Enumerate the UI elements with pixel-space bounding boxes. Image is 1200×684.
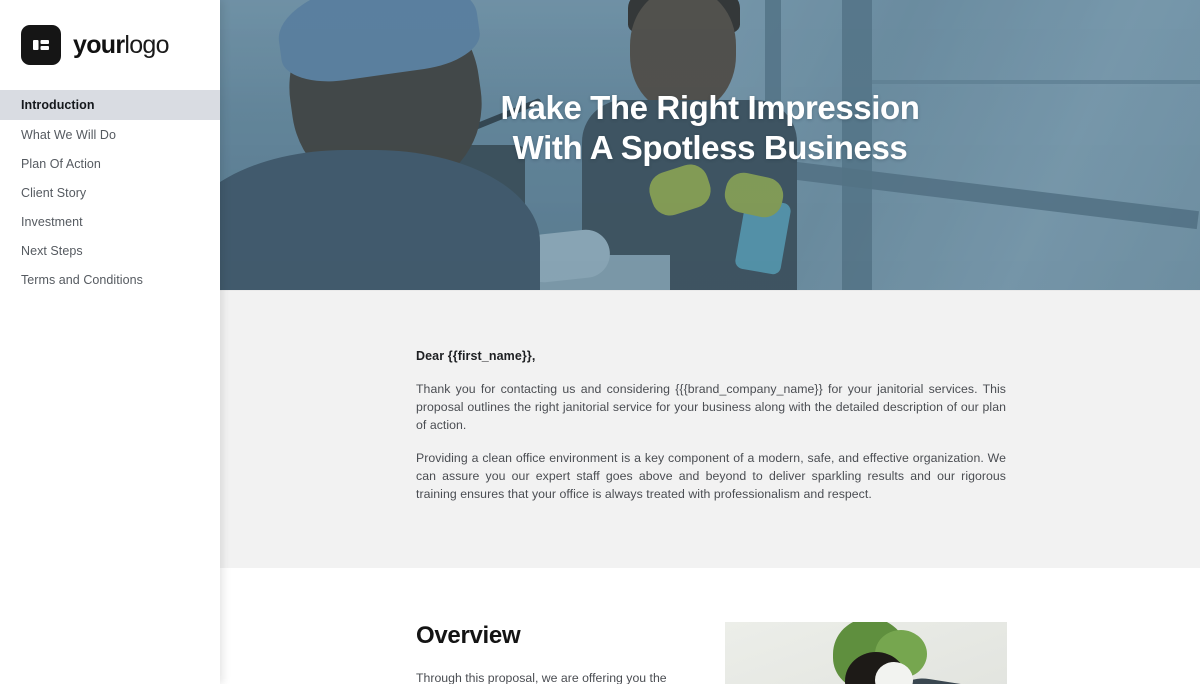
sidebar-item-introduction[interactable]: Introduction: [0, 90, 220, 120]
sidebar-item-label: What We Will Do: [21, 128, 116, 142]
sidebar-item-client-story[interactable]: Client Story: [0, 178, 220, 207]
sidebar-item-plan-of-action[interactable]: Plan Of Action: [0, 149, 220, 178]
overview-image: [725, 622, 1007, 684]
logo-text-light: logo: [124, 31, 168, 59]
sidebar-item-label: Plan Of Action: [21, 157, 101, 171]
hero-title-line-1: Make The Right Impression: [500, 89, 919, 126]
sidebar-item-investment[interactable]: Investment: [0, 207, 220, 236]
sidebar-item-label: Introduction: [21, 98, 95, 112]
logo[interactable]: yourlogo: [0, 0, 220, 90]
proposal-page: yourlogo Introduction What We Will Do Pl…: [0, 0, 1200, 684]
letter-paragraph-1: Thank you for contacting us and consider…: [416, 381, 1006, 434]
section-nav: Introduction What We Will Do Plan Of Act…: [0, 90, 220, 294]
document-body: Make The Right Impression With A Spotles…: [220, 0, 1200, 684]
overview-title: Overview: [416, 622, 701, 650]
overview-paragraph: Through this proposal, we are offering y…: [416, 670, 701, 684]
letter-paragraph-2: Providing a clean office environment is …: [416, 450, 1006, 503]
sidebar-item-label: Investment: [21, 215, 83, 229]
logo-text-bold: your: [73, 31, 124, 59]
sidebar: yourlogo Introduction What We Will Do Pl…: [0, 0, 220, 684]
logo-text: yourlogo: [73, 33, 169, 58]
letter-salutation: Dear {{first_name}},: [416, 349, 1006, 363]
sidebar-item-next-steps[interactable]: Next Steps: [0, 236, 220, 265]
sidebar-item-label: Client Story: [21, 186, 86, 200]
hero-title: Make The Right Impression With A Spotles…: [220, 88, 1200, 168]
layout-icon: [21, 25, 61, 65]
sidebar-item-terms-and-conditions[interactable]: Terms and Conditions: [0, 265, 220, 294]
cover-letter-section: Dear {{first_name}}, Thank you for conta…: [220, 290, 1200, 568]
sidebar-item-label: Next Steps: [21, 244, 83, 258]
hero-banner: Make The Right Impression With A Spotles…: [220, 0, 1200, 290]
overview-section: Overview Through this proposal, we are o…: [220, 568, 1200, 684]
sidebar-item-what-we-will-do[interactable]: What We Will Do: [0, 120, 220, 149]
hero-title-line-2: With A Spotless Business: [513, 129, 908, 166]
sidebar-item-label: Terms and Conditions: [21, 273, 143, 287]
